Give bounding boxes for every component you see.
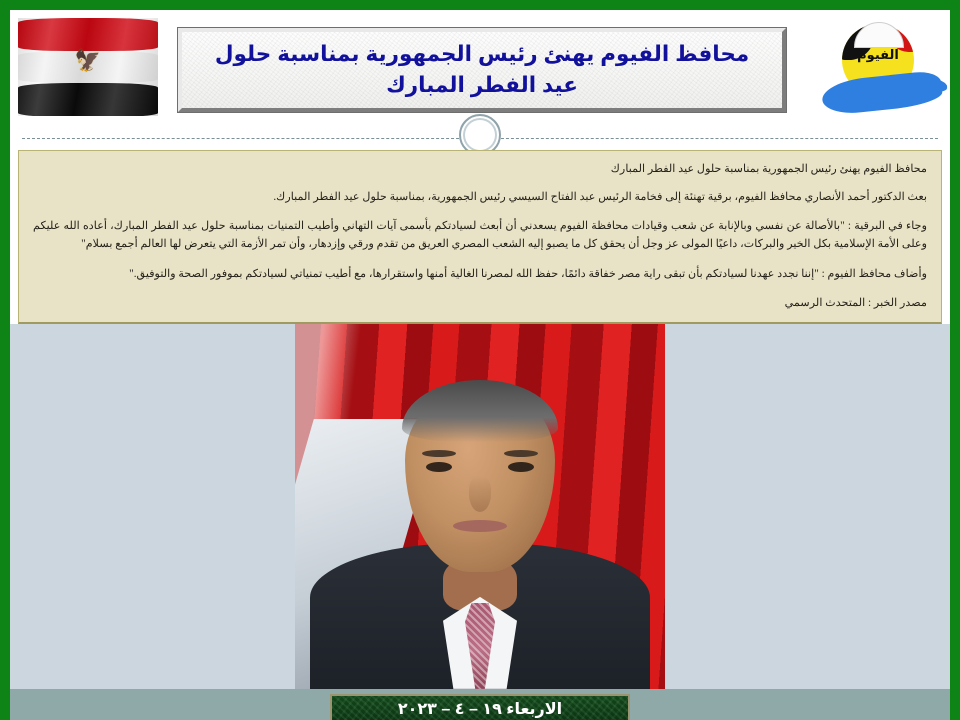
- president-portrait-image: [295, 324, 665, 689]
- page-header: 🦅 محافظ الفيوم يهنئ رئيس الجمهورية بمناس…: [10, 10, 950, 128]
- article-panel: محافظ الفيوم يهنئ رئيس الجمهورية بمناسبة…: [18, 150, 942, 324]
- slide-content: 🦅 محافظ الفيوم يهنئ رئيس الجمهورية بمناس…: [10, 10, 950, 720]
- header-divider: [10, 128, 950, 150]
- portrait-brow-left: [422, 450, 456, 457]
- logo-lake-shape: [821, 70, 944, 116]
- page-footer: الاربعاء ١٩ – ٤ – ٢٠٢٣: [10, 689, 950, 720]
- article-lede: محافظ الفيوم يهنئ رئيس الجمهورية بمناسبة…: [33, 160, 927, 178]
- date-label: الاربعاء ١٩ – ٤ – ٢٠٢٣: [398, 701, 562, 718]
- flag-band-red: [18, 18, 158, 51]
- date-plate: الاربعاء ١٩ – ٤ – ٢٠٢٣: [330, 694, 630, 720]
- portrait-brow-right: [504, 450, 538, 457]
- page-title: محافظ الفيوم يهنئ رئيس الجمهورية بمناسبة…: [196, 39, 768, 100]
- photo-stage: [10, 324, 950, 689]
- portrait-mouth: [453, 520, 507, 532]
- eagle-of-saladin-icon: 🦅: [75, 51, 101, 72]
- portrait-eye-left: [426, 462, 452, 472]
- portrait-eye-right: [508, 462, 534, 472]
- flag-band-black: [18, 83, 158, 116]
- article-paragraph-1: بعث الدكتور أحمد الأنصاري محافظ الفيوم، …: [33, 188, 927, 206]
- article-paragraph-2: وجاء في البرقية : "بالأصالة عن نفسي وبال…: [33, 217, 927, 253]
- slide-frame: 🦅 محافظ الفيوم يهنئ رئيس الجمهورية بمناس…: [0, 0, 960, 720]
- egyptian-flag-icon: 🦅: [18, 18, 158, 116]
- portrait-nose: [469, 476, 491, 512]
- title-plaque: محافظ الفيوم يهنئ رئيس الجمهورية بمناسبة…: [178, 28, 786, 112]
- article-source: مصدر الخبر : المتحدث الرسمي: [33, 294, 927, 312]
- article-paragraph-3: وأضاف محافظ الفيوم : "إننا نجدد عهدنا لس…: [33, 265, 927, 283]
- fayoum-governorate-logo-icon: الفيوم: [820, 20, 944, 120]
